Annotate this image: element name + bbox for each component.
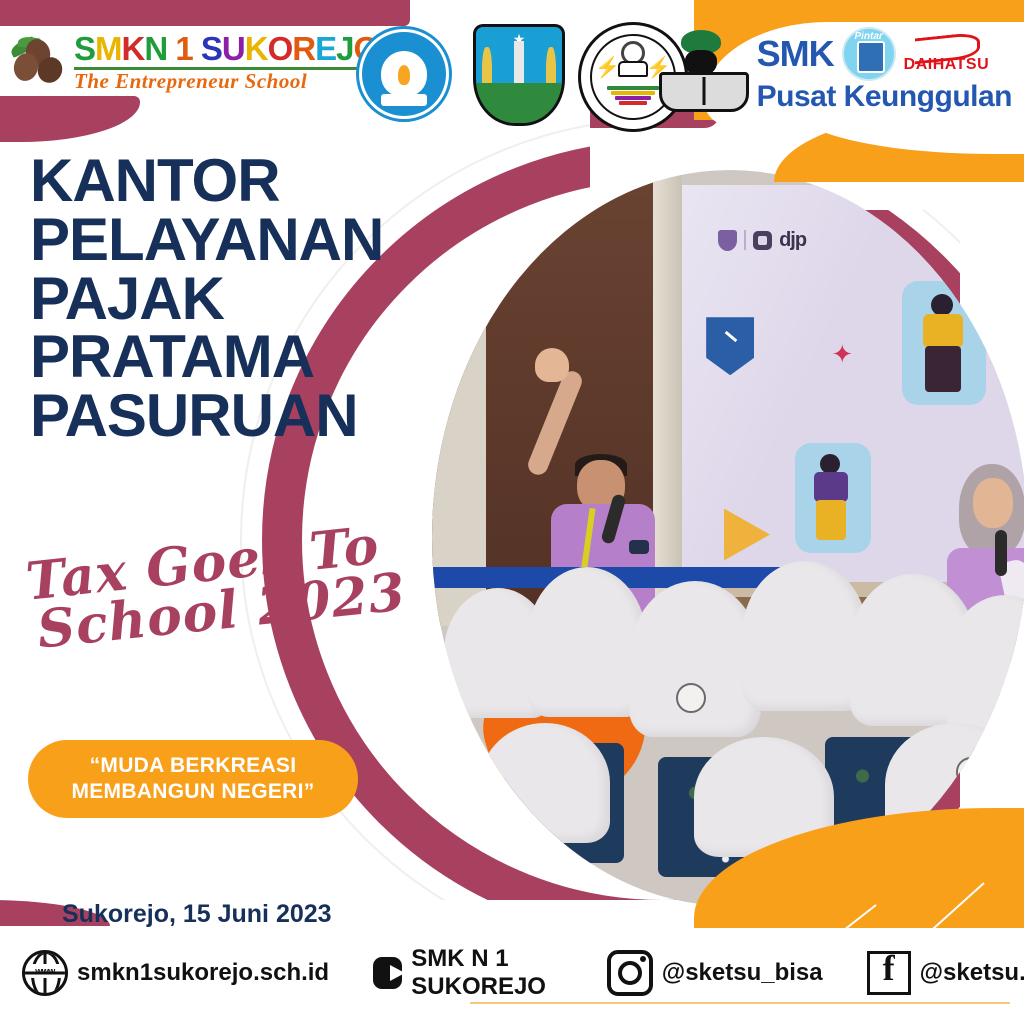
slogan-badge: “MUDA BERKREASI MEMBANGUN NEGERI” bbox=[28, 740, 358, 818]
ministry-crest-icon bbox=[718, 230, 737, 251]
smk-pusat-keunggulan-logo: SMK Pintar DAIHATSU Pusat Keunggulan bbox=[757, 27, 1012, 113]
instagram-label: @sketsu_bisa bbox=[662, 959, 823, 987]
daihatsu-mark-icon bbox=[915, 35, 977, 57]
tut-wuri-book-icon bbox=[381, 94, 427, 106]
event-photo: djp ✦ bbox=[432, 170, 1024, 906]
headline-line-1: KANTOR bbox=[30, 152, 383, 211]
pusat-keunggulan-label: Pusat Keunggulan bbox=[757, 81, 1012, 113]
seal-car-icon bbox=[618, 61, 648, 77]
djp-wordmark: djp bbox=[779, 229, 806, 252]
banner-star-icon: ✦ bbox=[831, 339, 853, 370]
social-footer: www smkn1sukorejo.sch.id SMK N 1 SUKOREJ… bbox=[22, 948, 1006, 998]
headline-line-5: PASURUAN bbox=[30, 387, 383, 446]
top-right-orange-sliver bbox=[774, 110, 1024, 182]
seal-book-steps-icon bbox=[607, 85, 659, 107]
tut-wuri-handayani-logo bbox=[356, 26, 452, 122]
photo-audience bbox=[432, 567, 1024, 906]
youtube-label: SMK N 1 SUKOREJO bbox=[411, 945, 563, 1001]
pintar-label: Pintar bbox=[844, 32, 894, 43]
djp-mark-icon bbox=[753, 231, 772, 250]
globe-www-label: www bbox=[25, 964, 65, 978]
partner-logos-group: SMK Pintar DAIHATSU Pusat Keunggulan bbox=[655, 26, 1012, 114]
banner-character-purple bbox=[802, 450, 864, 546]
globe-icon: www bbox=[22, 950, 68, 996]
smkn1-sukorejo-logo: SMKN 1 SUKOREJO The Entrepreneur School bbox=[12, 32, 378, 92]
school-tagline: The Entrepreneur School bbox=[74, 71, 378, 92]
facebook-icon bbox=[867, 951, 911, 995]
bottom-orange-rule bbox=[470, 1002, 1010, 1004]
daihatsu-logo: DAIHATSU bbox=[904, 35, 989, 74]
slogan-line-2: MEMBANGUN NEGERI” bbox=[71, 779, 314, 805]
smkn1-sukorejo-wordmark: SMKN 1 SUKOREJO bbox=[74, 32, 378, 65]
facebook-item[interactable]: @sketsu.bisa bbox=[867, 951, 1024, 995]
headline-line-4: PRATAMA bbox=[30, 328, 383, 387]
youtube-icon bbox=[373, 957, 402, 989]
jawa-timur-provincial-emblem: ★ bbox=[470, 24, 568, 124]
youtube-item[interactable]: SMK N 1 SUKOREJO bbox=[373, 945, 563, 1001]
instagram-icon bbox=[607, 950, 653, 996]
poster-canvas: djp ✦ bbox=[0, 0, 1024, 1024]
headline-line-3: PAJAK bbox=[30, 270, 383, 329]
facebook-label: @sketsu.bisa bbox=[920, 959, 1024, 987]
logo-divider bbox=[744, 230, 746, 250]
seal-lightning-left-icon: ⚡ bbox=[595, 55, 620, 80]
slogan-line-1: “MUDA BERKREASI bbox=[71, 753, 314, 779]
photo-wall-light bbox=[432, 170, 486, 626]
banner-character-yellow bbox=[909, 288, 979, 398]
instagram-item[interactable]: @sketsu_bisa bbox=[607, 950, 823, 996]
tut-wuri-bird-icon bbox=[381, 51, 427, 97]
date-line: Sukorejo, 15 Juni 2023 bbox=[62, 900, 332, 929]
adiwiyata-logo bbox=[655, 26, 747, 114]
pintar-icon: Pintar bbox=[842, 27, 896, 81]
logo-strip: SMKN 1 SUKOREJO The Entrepreneur School … bbox=[0, 18, 1024, 118]
page-title: KANTOR PELAYANAN PAJAK PRATAMA PASURUAN bbox=[30, 152, 383, 446]
website-label: smkn1sukorejo.sch.id bbox=[77, 959, 329, 987]
cocoa-bean-icon bbox=[12, 37, 66, 87]
smk-label: SMK bbox=[757, 35, 834, 73]
djp-logo-row: djp bbox=[718, 229, 806, 252]
headline-line-2: PELAYANAN bbox=[30, 211, 383, 270]
website-item[interactable]: www smkn1sukorejo.sch.id bbox=[22, 950, 329, 996]
event-script-title: Tax Goes To School 2023 bbox=[24, 519, 408, 657]
